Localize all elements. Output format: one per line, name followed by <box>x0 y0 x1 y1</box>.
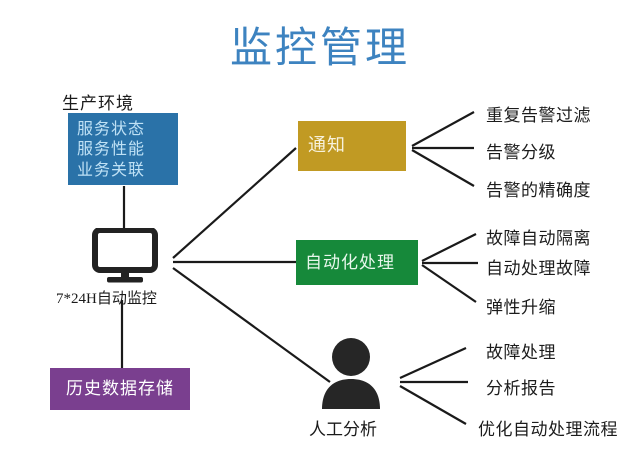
leaf-manual-1: 故障处理 <box>486 338 556 363</box>
line-monitor-to-notification <box>173 148 296 258</box>
line-manual-leaf-1 <box>400 348 466 378</box>
service-metrics-box: 服务状态 服务性能 业务关联 <box>68 113 178 185</box>
leaf-manual-2: 分析报告 <box>486 374 556 399</box>
leaf-automation-2: 自动处理故障 <box>486 254 591 279</box>
leaf-notification-2: 告警分级 <box>486 138 556 163</box>
line-automation-leaf-1 <box>422 234 476 261</box>
manual-analysis-label: 人工分析 <box>309 415 377 440</box>
production-environment-label: 生产环境 <box>62 89 134 114</box>
monitor-icon <box>92 228 158 284</box>
leaf-automation-1: 故障自动隔离 <box>486 224 591 249</box>
line-monitor-to-manual <box>173 268 330 382</box>
monitor-label: 7*24H自动监控 <box>56 287 157 308</box>
line-manual-leaf-3 <box>400 386 466 424</box>
leaf-notification-1: 重复告警过滤 <box>486 101 591 126</box>
line-notification-leaf-3 <box>412 150 474 186</box>
leaf-manual-3: 优化自动处理流程 <box>478 415 618 440</box>
history-storage-box: 历史数据存储 <box>50 368 190 410</box>
automation-node: 自动化处理 <box>296 240 418 285</box>
notification-node: 通知 <box>298 121 406 171</box>
leaf-automation-3: 弹性升缩 <box>486 293 556 318</box>
person-icon <box>320 337 382 409</box>
leaf-notification-3: 告警的精确度 <box>486 176 591 201</box>
line-notification-leaf-1 <box>412 112 474 146</box>
line-automation-leaf-3 <box>422 265 476 302</box>
diagram-canvas: 监控管理 生产环境 服务状态 服务性能 业务关联 7*24H自动监控 <box>0 0 640 449</box>
